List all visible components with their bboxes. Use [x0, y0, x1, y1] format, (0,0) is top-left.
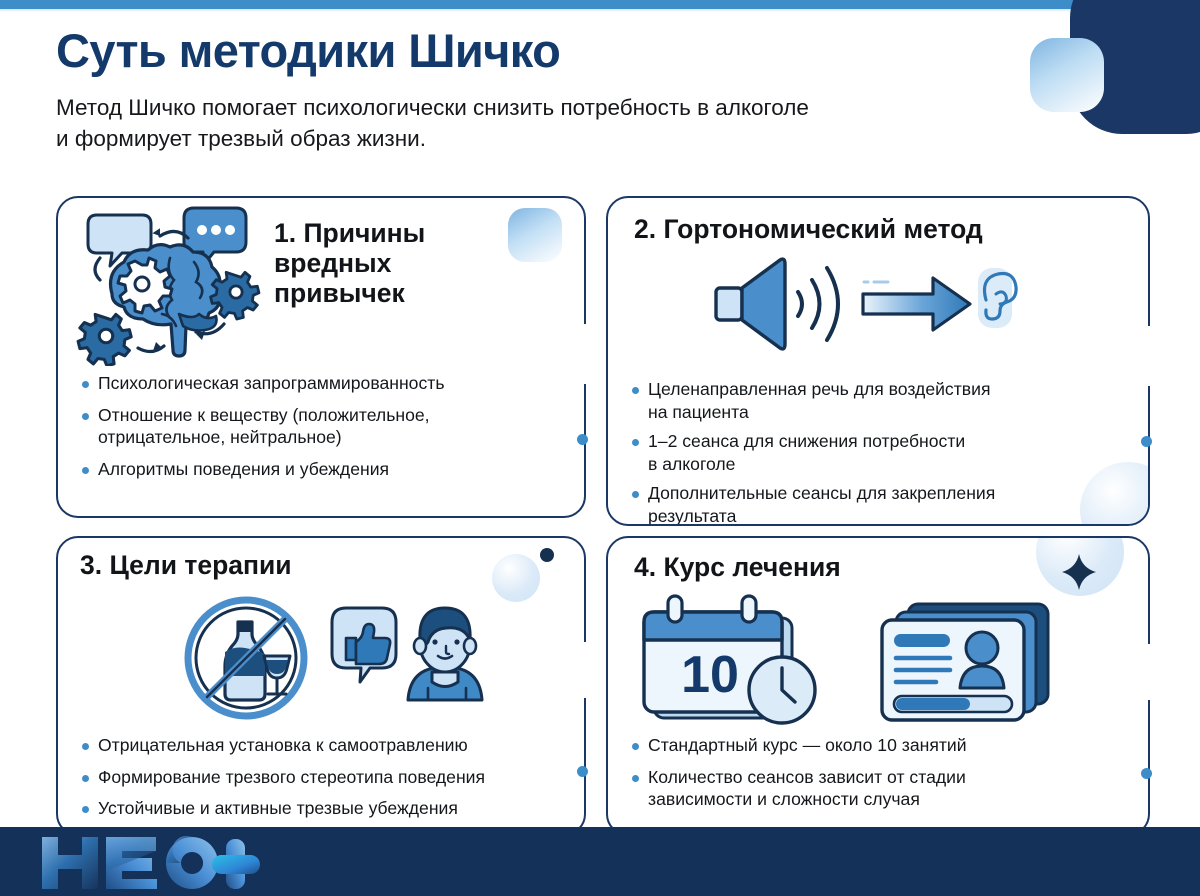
bullet-dot-icon	[82, 743, 89, 750]
neo-plus-logo	[40, 835, 270, 896]
bullet-text: Отрицательная установка к самоотравлению	[98, 734, 468, 757]
speaker-arrow-ear-icon	[708, 254, 1018, 354]
card-2-title: 2. Гортономический метод	[634, 214, 1134, 244]
list-item: Количество сеансов зависит от стадии зав…	[632, 766, 1128, 811]
card-4-title: 4. Курс лечения	[634, 552, 1084, 582]
bullet-dot-icon	[632, 491, 639, 498]
page-subtitle: Метод Шичко помогает психологически сниз…	[56, 92, 1016, 154]
card-3-accent-dot	[577, 766, 588, 777]
list-item: Устойчивые и активные трезвые убеждения	[82, 797, 564, 820]
page-title: Суть методики Шичко	[56, 26, 1066, 76]
card-2-header: 2. Гортономический метод	[634, 214, 1134, 244]
footer	[0, 827, 1200, 896]
card-4-bullet-list: Стандартный курс — около 10 занятий Коли…	[632, 734, 1128, 820]
bullet-dot-icon	[632, 775, 639, 782]
calendar-clock-cards-icon: 10	[630, 594, 1060, 726]
bullet-text: Устойчивые и активные трезвые убеждения	[98, 797, 458, 820]
list-item: Алгоритмы поведения и убеждения	[82, 458, 564, 481]
list-item: Отрицательная установка к самоотравлению	[82, 734, 564, 757]
header: Суть методики Шичко Метод Шичко помогает…	[56, 26, 1066, 154]
card-1-border-gap	[577, 324, 587, 384]
bullet-dot-icon	[82, 775, 89, 782]
no-alcohol-thumbsup-person-icon	[180, 594, 490, 724]
bullet-dot-icon	[82, 806, 89, 813]
bullet-dot-icon	[632, 387, 639, 394]
bullet-text: Формирование трезвого стереотипа поведен…	[98, 766, 485, 789]
card-3-header: 3. Цели терапии	[80, 550, 530, 580]
bullet-dot-icon	[82, 467, 89, 474]
card-3-bullet-list: Отрицательная установка к самоотравлению…	[82, 734, 564, 829]
bullet-text: Дополнительные сеансы для закрепления ре…	[648, 482, 995, 526]
list-item: Целенаправленная речь для воздействия на…	[632, 378, 1128, 423]
card-1-title: 1. Причины вредных привычек	[274, 218, 564, 309]
bullet-dot-icon	[82, 381, 89, 388]
bullet-text: Количество сеансов зависит от стадии зав…	[648, 766, 966, 811]
card-2-accent-dot	[1141, 436, 1152, 447]
card-3-title: 3. Цели терапии	[80, 550, 530, 580]
bullet-text: Отношение к веществу (положительное, отр…	[98, 404, 430, 449]
calendar-day-number: 10	[681, 646, 739, 704]
bullet-text: Целенаправленная речь для воздействия на…	[648, 378, 991, 423]
card-causes-of-bad-habits[interactable]: 1. Причины вредных привычек Психологичес…	[56, 196, 586, 518]
card-2-border-gap	[1141, 326, 1151, 386]
card-1-header: 1. Причины вредных привычек	[274, 218, 564, 309]
bullet-text: Алгоритмы поведения и убеждения	[98, 458, 389, 481]
card-2-bullet-list: Целенаправленная речь для воздействия на…	[632, 378, 1128, 526]
list-item: 1–2 сеанса для снижения потребности в ал…	[632, 430, 1128, 475]
bullet-text: Стандартный курс — около 10 занятий	[648, 734, 967, 757]
list-item: Стандартный курс — около 10 занятий	[632, 734, 1128, 757]
top-accent-bar-shadow	[0, 9, 1096, 12]
bullet-dot-icon	[632, 439, 639, 446]
list-item: Отношение к веществу (положительное, отр…	[82, 404, 564, 449]
card-1-bullet-list: Психологическая запрограммированность От…	[82, 372, 564, 489]
card-hortonomic-method[interactable]: 2. Гортономический метод	[606, 196, 1150, 526]
card-4-header: 4. Курс лечения	[634, 552, 1084, 582]
card-grid: 1. Причины вредных привычек Психологичес…	[56, 196, 1150, 828]
card-treatment-course[interactable]: 4. Курс лечения 10	[606, 536, 1150, 836]
card-therapy-goals[interactable]: 3. Цели терапии	[56, 536, 586, 836]
bullet-text: 1–2 сеанса для снижения потребности в ал…	[648, 430, 965, 475]
list-item: Психологическая запрограммированность	[82, 372, 564, 395]
list-item: Дополнительные сеансы для закрепления ре…	[632, 482, 1128, 526]
bullet-dot-icon	[82, 413, 89, 420]
card-1-accent-dot	[577, 434, 588, 445]
card-4-border-gap	[1141, 644, 1151, 700]
bullet-dot-icon	[632, 743, 639, 750]
card-3-border-gap	[577, 642, 587, 698]
decorative-navy-dot	[540, 548, 554, 562]
brain-gears-speech-icon	[76, 206, 266, 366]
bullet-text: Психологическая запрограммированность	[98, 372, 445, 395]
list-item: Формирование трезвого стереотипа поведен…	[82, 766, 564, 789]
top-accent-bar	[0, 0, 1096, 9]
card-4-accent-dot	[1141, 768, 1152, 779]
